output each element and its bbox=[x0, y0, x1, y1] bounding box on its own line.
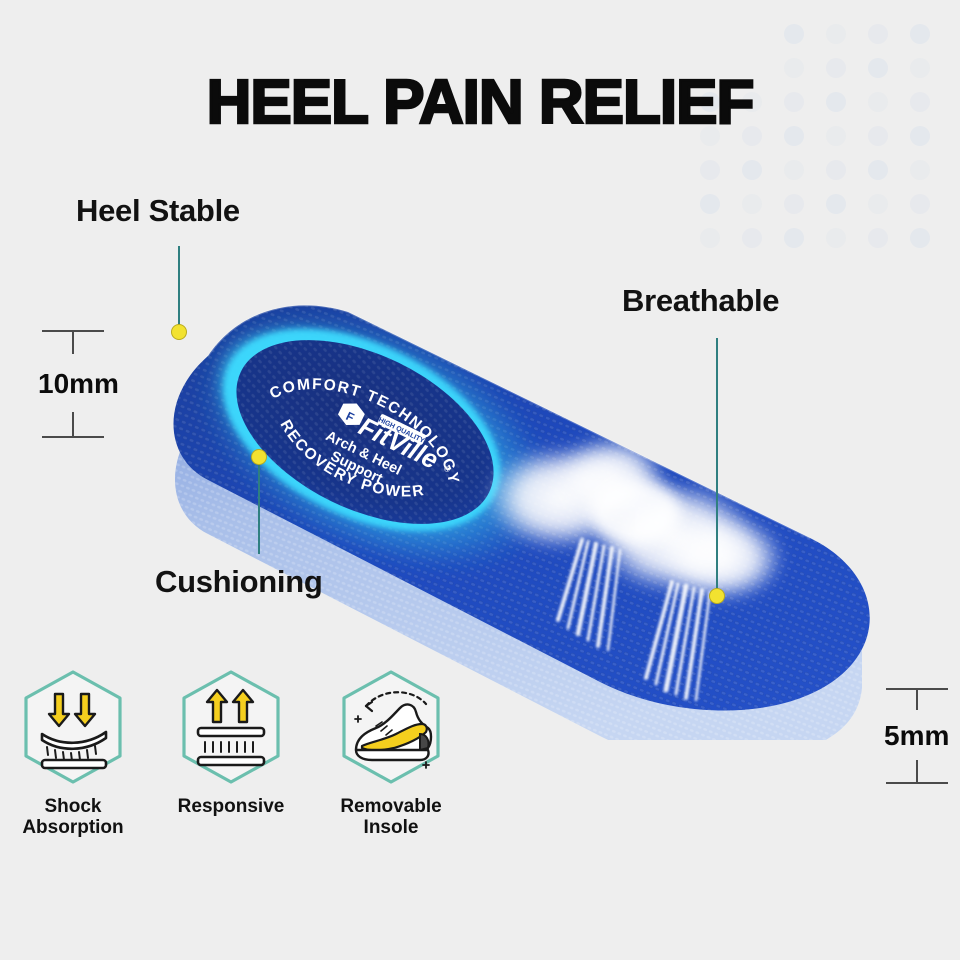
measurement-forefoot-thickness: 5mm bbox=[886, 688, 950, 784]
decorative-dot bbox=[868, 24, 888, 44]
decorative-dot bbox=[784, 160, 804, 180]
up-arrows-rebound-icon bbox=[176, 668, 286, 786]
feature-badge-label: Removable Insole bbox=[332, 796, 450, 839]
decorative-dot bbox=[910, 160, 930, 180]
callout-label-cushioning: Cushioning bbox=[155, 564, 322, 600]
hexagon-frame bbox=[18, 668, 128, 786]
feature-badge-responsive: Responsive bbox=[172, 668, 290, 817]
decorative-dot bbox=[868, 160, 888, 180]
decorative-dot bbox=[700, 228, 720, 248]
decorative-dot bbox=[910, 24, 930, 44]
feature-badge-row: Shock Absorption bbox=[14, 668, 484, 898]
decorative-dot bbox=[784, 24, 804, 44]
leader-dot-cushioning bbox=[251, 449, 267, 465]
decorative-dot bbox=[826, 194, 846, 214]
leader-dot-breathable bbox=[709, 588, 725, 604]
shoe-removable-insole-icon bbox=[336, 668, 446, 786]
decorative-dot bbox=[910, 228, 930, 248]
decorative-dot bbox=[742, 194, 762, 214]
decorative-dot bbox=[868, 194, 888, 214]
decorative-dot bbox=[742, 160, 762, 180]
decorative-dot bbox=[910, 194, 930, 214]
measurement-value-5mm: 5mm bbox=[884, 720, 949, 752]
decorative-dot bbox=[784, 228, 804, 248]
measurement-heel-thickness: 10mm bbox=[42, 330, 106, 438]
feature-badge-label: Responsive bbox=[172, 796, 290, 817]
feature-badge-removable-insole: Removable Insole bbox=[332, 668, 450, 839]
feature-badge-shock-absorption: Shock Absorption bbox=[14, 668, 132, 839]
decorative-dot bbox=[700, 160, 720, 180]
hexagon-frame bbox=[176, 668, 286, 786]
decorative-dot bbox=[826, 228, 846, 248]
measurement-value-10mm: 10mm bbox=[38, 368, 119, 400]
decorative-dot bbox=[784, 194, 804, 214]
down-arrows-compression-icon bbox=[18, 668, 128, 786]
hexagon-frame bbox=[336, 668, 446, 786]
callout-label-heel-stable: Heel Stable bbox=[76, 193, 240, 229]
leader-line-cushioning bbox=[258, 460, 260, 554]
decorative-dot bbox=[700, 194, 720, 214]
decorative-dot-grid bbox=[700, 24, 960, 264]
infographic-canvas: HEEL PAIN RELIEF bbox=[0, 0, 960, 960]
decorative-dot bbox=[868, 228, 888, 248]
decorative-dot bbox=[826, 160, 846, 180]
feature-badge-label: Shock Absorption bbox=[14, 796, 132, 839]
leader-line-breathable bbox=[716, 338, 718, 596]
leader-line-heel-stable bbox=[178, 246, 180, 332]
callout-label-breathable: Breathable bbox=[622, 283, 779, 319]
page-title: HEEL PAIN RELIEF bbox=[0, 72, 960, 134]
leader-dot-heel-stable bbox=[171, 324, 187, 340]
decorative-dot bbox=[742, 228, 762, 248]
decorative-dot bbox=[826, 24, 846, 44]
